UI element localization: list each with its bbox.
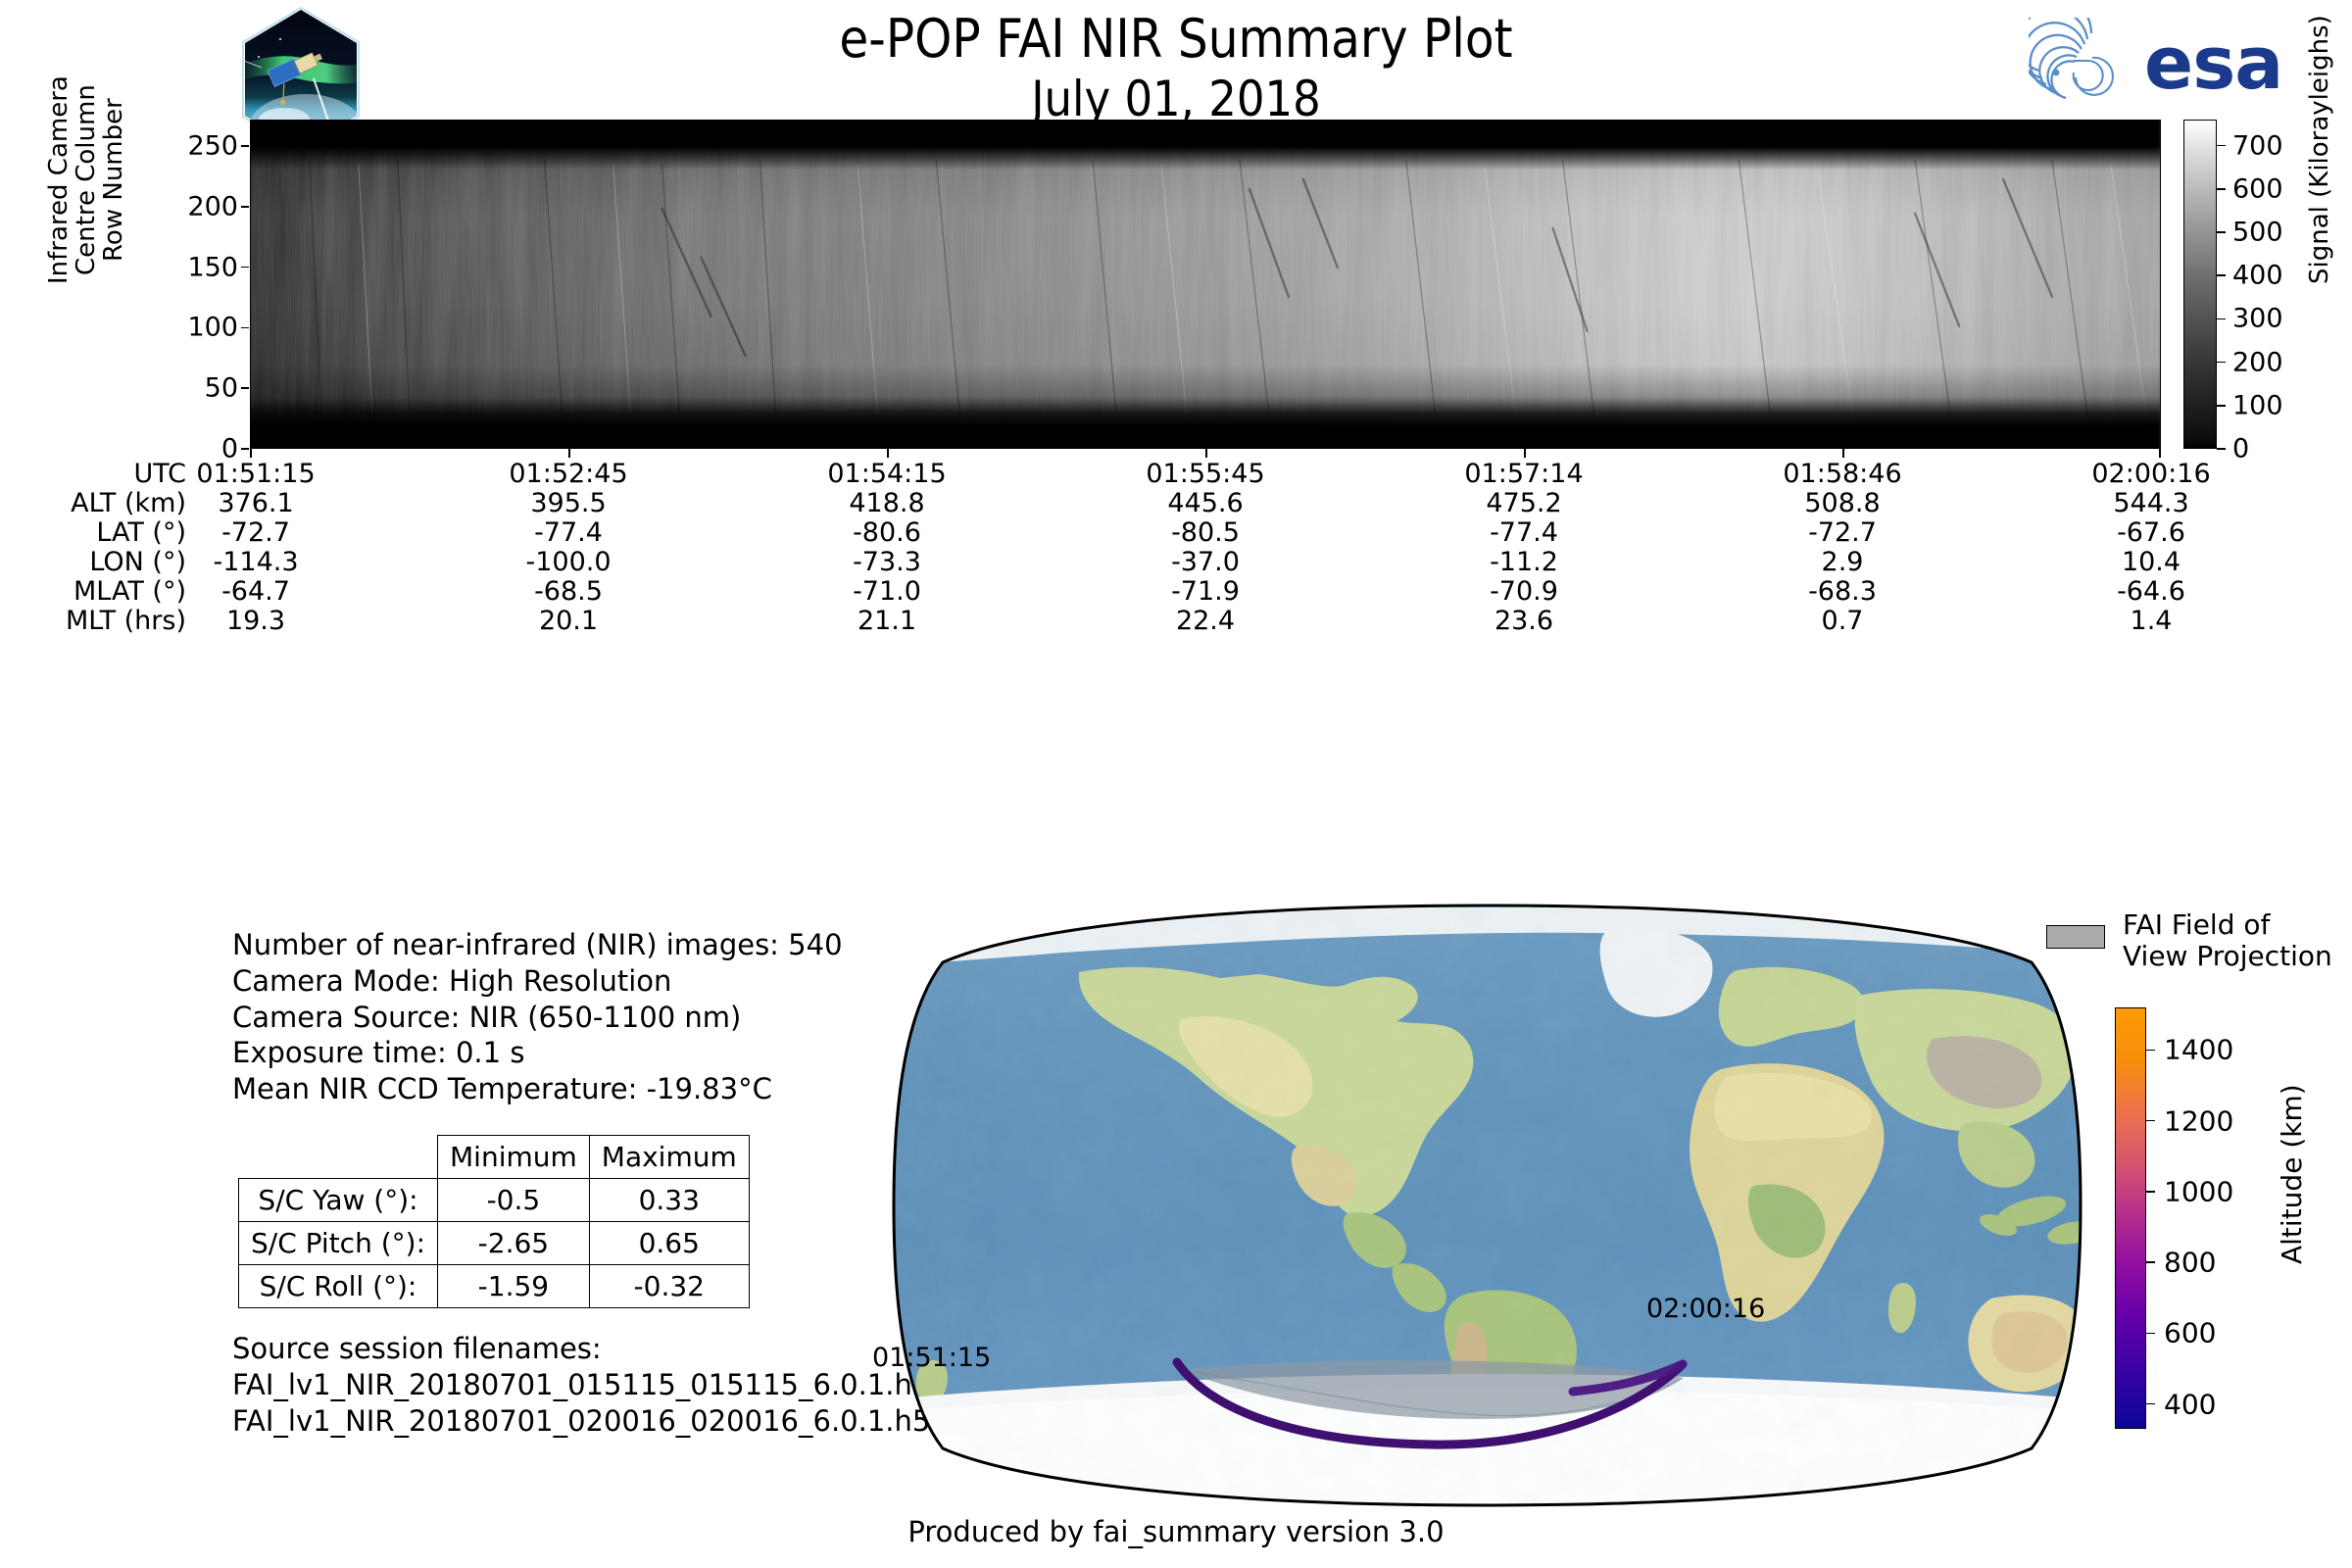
attitude-row-label: S/C Pitch (°): (239, 1222, 438, 1265)
altitude-colorbar-tick-label: 600 (2164, 1317, 2216, 1349)
ephemeris-row-label: MLAT (°) (0, 576, 186, 607)
signal-colorbar-tick-label: 300 (2232, 304, 2283, 334)
altitude-colorbar-tick-label: 1200 (2164, 1104, 2233, 1137)
ephemeris-row-label: MLT (hrs) (0, 606, 186, 636)
ephemeris-value: -73.3 (853, 547, 921, 577)
ephemeris-value: 01:51:15 (196, 459, 315, 489)
signal-colorbar-tick-label: 700 (2232, 130, 2283, 161)
signal-colorbar-tick-mark (2217, 448, 2226, 450)
esa-logo-icon: esa (2029, 18, 2323, 106)
ephemeris-value: 10.4 (2122, 547, 2180, 577)
ephemeris-value: 1.4 (2131, 606, 2173, 636)
ephemeris-row: UTC01:51:1501:52:4501:54:1501:55:4501:57… (0, 459, 2244, 488)
fov-legend-swatch (2046, 925, 2105, 949)
ephemeris-value: 23.6 (1494, 606, 1553, 636)
keogram-ytick-label: 50 (173, 373, 238, 404)
altitude-colorbar-tick-label: 1000 (2164, 1175, 2233, 1207)
ephemeris-value: 0.7 (1822, 606, 1864, 636)
acquisition-info-line: Number of near-infrared (NIR) images: 54… (232, 927, 843, 963)
ephemeris-value: 01:54:15 (827, 459, 946, 489)
ephemeris-value: -77.4 (534, 517, 603, 548)
keogram-xtick-mark (250, 449, 252, 458)
ephemeris-value: -11.2 (1490, 547, 1558, 577)
ephemeris-value: -68.3 (1808, 576, 1877, 607)
ephemeris-value: 508.8 (1804, 488, 1880, 518)
signal-colorbar-tick-label: 500 (2232, 217, 2283, 247)
ephemeris-value: -68.5 (534, 576, 603, 607)
attitude-value-cell: -0.32 (589, 1265, 749, 1308)
keogram-ytick-mark (241, 448, 249, 450)
ephemeris-value: -71.9 (1171, 576, 1240, 607)
ephemeris-value: 2.9 (1822, 547, 1864, 577)
signal-colorbar-tick-label: 200 (2232, 347, 2283, 377)
ephemeris-value: 445.6 (1167, 488, 1243, 518)
signal-colorbar-tick-mark (2217, 231, 2226, 233)
ephemeris-row-label: ALT (km) (0, 488, 186, 518)
keogram-xtick-mark (1842, 449, 1844, 458)
filenames-heading: Source session filenames: (232, 1331, 968, 1367)
ephemeris-row-label: LAT (°) (0, 517, 186, 548)
keogram-ytick-mark (241, 267, 249, 269)
altitude-colorbar-tick-mark (2146, 1050, 2155, 1052)
attitude-table-row: S/C Roll (°):-1.59-0.32 (239, 1265, 750, 1308)
ephemeris-value: 19.3 (226, 606, 285, 636)
signal-colorbar (2183, 120, 2217, 449)
attitude-header-row: MinimumMaximum (239, 1136, 750, 1179)
ephemeris-value: 01:55:45 (1146, 459, 1264, 489)
keogram-xtick-mark (568, 449, 570, 458)
ephemeris-value: 02:00:16 (2091, 459, 2210, 489)
world-map (887, 902, 2087, 1509)
signal-colorbar-tick-mark (2217, 274, 2226, 276)
ephemeris-value: 475.2 (1486, 488, 1561, 518)
keogram-image (251, 121, 2160, 449)
keogram-ytick-mark (241, 387, 249, 389)
source-filenames: Source session filenames: FAI_lv1_NIR_20… (232, 1331, 968, 1439)
signal-colorbar-title: Signal (Kilorayleighs) (2305, 15, 2334, 284)
summary-plot-page: e-POP FAI NIR Summary Plot July 01, 2018 (0, 0, 2352, 1568)
attitude-table-row: S/C Yaw (°):-0.50.33 (239, 1179, 750, 1222)
keogram-ytick-label: 150 (173, 252, 238, 282)
filename-last: FAI_lv1_NIR_20180701_020016_020016_6.0.1… (232, 1403, 968, 1440)
attitude-value-cell: -0.5 (438, 1179, 590, 1222)
acquisition-info-line: Mean NIR CCD Temperature: -19.83°C (232, 1071, 843, 1107)
altitude-colorbar-tick-mark (2146, 1403, 2155, 1405)
ephemeris-value: -64.6 (2117, 576, 2185, 607)
ephemeris-row: MLAT (°)-64.7-68.5-71.0-71.9-70.9-68.3-6… (0, 576, 2244, 606)
filename-first: FAI_lv1_NIR_20180701_015115_015115_6.0.1… (232, 1367, 968, 1403)
ephemeris-row: ALT (km)376.1395.5418.8445.6475.2508.854… (0, 488, 2244, 517)
ephemeris-value: 418.8 (849, 488, 924, 518)
fov-legend-label: FAI Field of View Projection (2123, 909, 2332, 973)
ephemeris-value: -70.9 (1490, 576, 1558, 607)
keogram-ytick-label: 250 (173, 131, 238, 162)
ephemeris-value: -64.7 (221, 576, 290, 607)
ephemeris-value: 21.1 (857, 606, 916, 636)
attitude-table-row: S/C Pitch (°):-2.650.65 (239, 1222, 750, 1265)
ephemeris-row-label: UTC (0, 459, 186, 489)
acquisition-info-line: Exposure time: 0.1 s (232, 1035, 843, 1071)
attitude-column-header: Maximum (589, 1136, 749, 1179)
track-end-time-label: 02:00:16 (1646, 1294, 1765, 1324)
ephemeris-value: -114.3 (213, 547, 298, 577)
signal-colorbar-tick-mark (2217, 362, 2226, 364)
ephemeris-row: LAT (°)-72.7-77.4-80.6-80.5-77.4-72.7-67… (0, 517, 2244, 547)
altitude-colorbar-tick-label: 400 (2164, 1388, 2216, 1420)
ephemeris-value: -67.6 (2117, 517, 2185, 548)
ephemeris-row-label: LON (°) (0, 547, 186, 577)
ephemeris-value: -80.6 (853, 517, 921, 548)
altitude-colorbar-title: Altitude (km) (2276, 1084, 2308, 1264)
attitude-value-cell: -1.59 (438, 1265, 590, 1308)
altitude-colorbar-tick-mark (2146, 1191, 2155, 1193)
ephemeris-value: -77.4 (1490, 517, 1558, 548)
ephemeris-value: 01:52:45 (509, 459, 627, 489)
ephemeris-value: 20.1 (539, 606, 598, 636)
altitude-colorbar-tick-mark (2146, 1333, 2155, 1335)
ephemeris-value: 01:58:46 (1783, 459, 1901, 489)
keogram-y-axis-label: Infrared Camera Centre Column Row Number (45, 75, 127, 284)
keogram-ytick-mark (241, 327, 249, 329)
signal-colorbar-tick-label: 600 (2232, 173, 2283, 204)
ephemeris-value: -71.0 (853, 576, 921, 607)
ephemeris-value: -37.0 (1171, 547, 1240, 577)
signal-colorbar-tick-mark (2217, 318, 2226, 320)
signal-colorbar-tick-label: 400 (2232, 261, 2283, 291)
esa-wordmark: esa (2144, 22, 2282, 106)
ephemeris-value: -72.7 (221, 517, 290, 548)
footer-credit: Produced by fai_summary version 3.0 (0, 1515, 2352, 1548)
attitude-value-cell: -2.65 (438, 1222, 590, 1265)
ephemeris-value: -72.7 (1808, 517, 1877, 548)
keogram-xtick-mark (1524, 449, 1526, 458)
track-start-time-label: 01:51:15 (872, 1343, 991, 1373)
ephemeris-value: 395.5 (530, 488, 606, 518)
ephemeris-value: 22.4 (1176, 606, 1235, 636)
altitude-colorbar-tick-label: 1400 (2164, 1034, 2233, 1066)
spacecraft-attitude-table: MinimumMaximumS/C Yaw (°):-0.50.33S/C Pi… (238, 1135, 750, 1308)
ephemeris-row: LON (°)-114.3-100.0-73.3-37.0-11.22.910.… (0, 547, 2244, 576)
orbit-ground-track-map: 01:51:15 02:00:16 (887, 902, 2087, 1509)
keogram-xtick-mark (1205, 449, 1207, 458)
keogram-ytick-label: 200 (173, 191, 238, 221)
signal-colorbar-tick-label: 100 (2232, 390, 2283, 420)
keogram-ytick-mark (241, 206, 249, 208)
altitude-colorbar-tick-mark (2146, 1261, 2155, 1263)
keogram-ytick-mark (241, 145, 249, 147)
altitude-colorbar-tick-mark (2146, 1120, 2155, 1122)
ephemeris-value: 01:57:14 (1464, 459, 1583, 489)
ephemeris-value: 376.1 (218, 488, 293, 518)
keogram-ytick-label: 100 (173, 313, 238, 343)
signal-colorbar-tick-mark (2217, 405, 2226, 407)
altitude-colorbar-tick-label: 800 (2164, 1247, 2216, 1279)
attitude-row-label: S/C Yaw (°): (239, 1179, 438, 1222)
acquisition-info-line: Camera Source: NIR (650-1100 nm) (232, 1000, 843, 1036)
altitude-colorbar (2115, 1007, 2146, 1429)
attitude-value-cell: 0.33 (589, 1179, 749, 1222)
acquisition-info-line: Camera Mode: High Resolution (232, 963, 843, 1000)
attitude-corner-cell (239, 1136, 438, 1179)
ephemeris-value: 544.3 (2113, 488, 2188, 518)
attitude-column-header: Minimum (438, 1136, 590, 1179)
keogram-xtick-mark (887, 449, 889, 458)
ephemeris-value: -100.0 (525, 547, 611, 577)
ephemeris-row: MLT (hrs)19.320.121.122.423.60.71.4 (0, 606, 2244, 635)
signal-colorbar-tick-mark (2217, 188, 2226, 190)
signal-colorbar-tick-mark (2217, 145, 2226, 147)
acquisition-info: Number of near-infrared (NIR) images: 54… (232, 927, 843, 1107)
attitude-value-cell: 0.65 (589, 1222, 749, 1265)
ephemeris-table: UTC01:51:1501:52:4501:54:1501:55:4501:57… (0, 459, 2244, 635)
keogram-xtick-mark (2159, 449, 2161, 458)
ephemeris-value: -80.5 (1171, 517, 1240, 548)
keogram-plot (250, 120, 2161, 449)
attitude-row-label: S/C Roll (°): (239, 1265, 438, 1308)
